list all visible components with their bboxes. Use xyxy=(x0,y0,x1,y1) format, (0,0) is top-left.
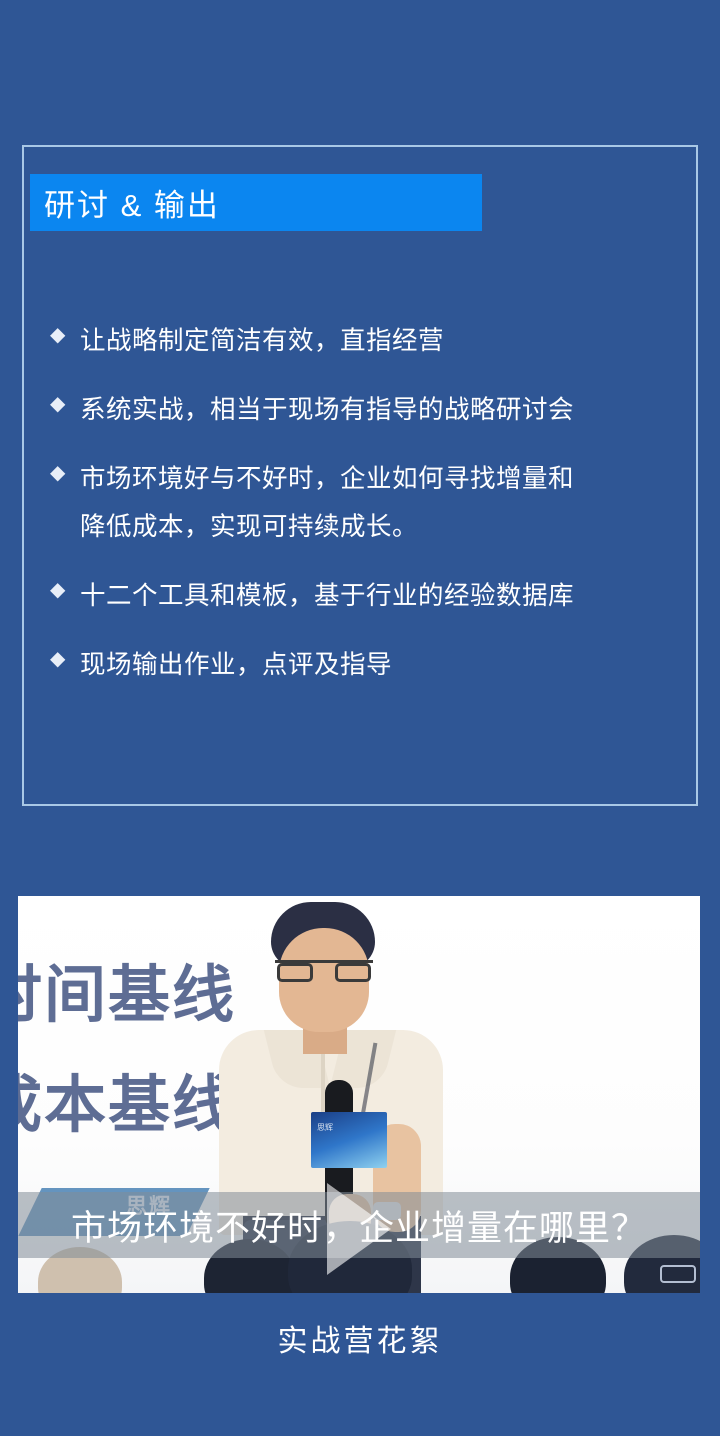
bullet-text: 系统实战，相当于现场有指导的战略研讨会 xyxy=(80,386,686,434)
video-player[interactable]: 时间基线 成本基线 思辉 xyxy=(18,896,700,1293)
list-item: ◆ 让战略制定简洁有效，直指经营 xyxy=(48,317,686,365)
page-title: 研讨 & 输出 xyxy=(30,180,220,225)
microphone-flag: 思辉 xyxy=(311,1112,387,1168)
diamond-bullet-icon: ◆ xyxy=(48,386,80,423)
diamond-bullet-icon: ◆ xyxy=(48,641,80,678)
projected-slide-line-1: 时间基线 xyxy=(18,944,236,1034)
list-item: ◆ 十二个工具和模板，基于行业的经验数据库 xyxy=(48,572,686,620)
slide-title-bar: 研讨 & 输出 xyxy=(30,174,482,231)
glasses-icon xyxy=(275,960,373,980)
projected-slide-line-2: 成本基线 xyxy=(18,1054,236,1144)
bullet-text: 现场输出作业，点评及指导 xyxy=(80,641,686,689)
slide-card: 研讨 & 输出 ◆ 让战略制定简洁有效，直指经营 ◆ 系统实战，相当于现场有指导… xyxy=(22,145,698,806)
bullet-text: 让战略制定简洁有效，直指经营 xyxy=(80,317,686,365)
play-triangle-icon[interactable] xyxy=(327,1183,391,1275)
diamond-bullet-icon: ◆ xyxy=(48,317,80,354)
microphone-flag-label: 思辉 xyxy=(317,1122,333,1133)
list-item: ◆ 现场输出作业，点评及指导 xyxy=(48,641,686,689)
list-item: ◆ 市场环境好与不好时，企业如何寻找增量和 降低成本，实现可持续成长。 xyxy=(48,455,686,551)
diamond-bullet-icon: ◆ xyxy=(48,572,80,609)
list-item: ◆ 系统实战，相当于现场有指导的战略研讨会 xyxy=(48,386,686,434)
video-label: 实战营花絮 xyxy=(0,1316,720,1360)
video-thumbnail: 时间基线 成本基线 思辉 xyxy=(18,896,700,1293)
bullet-list: ◆ 让战略制定简洁有效，直指经营 ◆ 系统实战，相当于现场有指导的战略研讨会 ◆… xyxy=(48,317,686,710)
bullet-text-continued: 降低成本，实现可持续成长。 xyxy=(80,503,686,551)
bullet-text: 市场环境好与不好时，企业如何寻找增量和 xyxy=(80,465,574,493)
bullet-text: 十二个工具和模板，基于行业的经验数据库 xyxy=(80,572,686,620)
slide-page: { "theme": { "background": "#2f5695", "c… xyxy=(0,0,720,1436)
diamond-bullet-icon: ◆ xyxy=(48,455,80,492)
